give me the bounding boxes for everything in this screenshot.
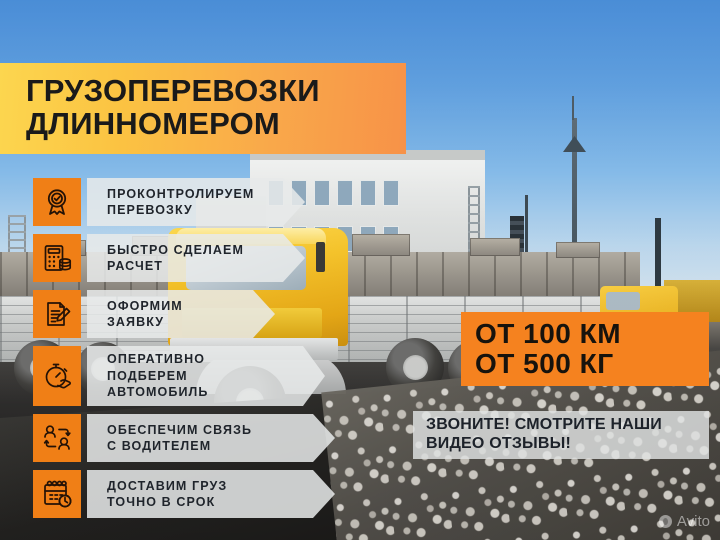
title-banner: ГРУЗОПЕРЕВОЗКИ ДЛИННОМЕРОМ bbox=[0, 63, 406, 154]
price-line-distance: ОТ 100 КМ bbox=[475, 319, 699, 349]
calculator-coins-icon bbox=[33, 234, 81, 282]
calendar-clock-icon bbox=[33, 470, 81, 518]
feature-line-1: БЫСТРО СДЕЛАЕМ bbox=[107, 242, 275, 259]
title-line-2: ДЛИННОМЕРОМ bbox=[26, 108, 394, 140]
feature-line-1: ОФОРМИМ bbox=[107, 298, 245, 315]
title-line-1: ГРУЗОПЕРЕВОЗКИ bbox=[26, 75, 394, 107]
feature-line-2: С ВОДИТЕЛЕМ bbox=[107, 438, 305, 455]
window bbox=[383, 180, 399, 206]
cargo-crate bbox=[470, 238, 520, 256]
cta-line-2: ВИДЕО ОТЗЫВЫ! bbox=[426, 435, 699, 454]
cta-line-1: ЗВОНИТЕ! СМОТРИТЕ НАШИ bbox=[426, 416, 699, 435]
feature-line-1: ПРОКОНТРОЛИРУЕМ bbox=[107, 186, 275, 203]
feature-text-panel: ОБЕСПЕЧИМ СВЯЗЬ С ВОДИТЕЛЕМ bbox=[87, 414, 335, 462]
feature-text-panel: ДОСТАВИМ ГРУЗ ТОЧНО В СРОК bbox=[87, 470, 335, 518]
feature-line-2: ЗАЯВКУ bbox=[107, 314, 245, 331]
feature-text-panel: ОФОРМИМ ЗАЯВКУ bbox=[87, 290, 275, 338]
feature-list: ПРОКОНТРОЛИРУЕМ ПЕРЕВОЗКУ bbox=[33, 178, 335, 518]
avito-watermark: Avito bbox=[659, 513, 710, 530]
feature-item: ДОСТАВИМ ГРУЗ ТОЧНО В СРОК bbox=[33, 470, 335, 518]
feature-text-panel: ОПЕРАТИВНО ПОДБЕРЕМ АВТОМОБИЛЬ bbox=[87, 346, 325, 406]
feature-line-2: РАСЧЕТ bbox=[107, 258, 275, 275]
second-truck-window bbox=[606, 292, 640, 310]
window bbox=[360, 180, 376, 206]
feature-line-2: ПЕРЕВОЗКУ bbox=[107, 202, 275, 219]
feature-text-panel: ПРОКОНТРОЛИРУЕМ ПЕРЕВОЗКУ bbox=[87, 178, 305, 226]
cargo-crate bbox=[556, 242, 600, 258]
two-persons-exchange-icon bbox=[33, 414, 81, 462]
feature-line-1: ДОСТАВИМ ГРУЗ bbox=[107, 478, 305, 495]
feature-line-3: АВТОМОБИЛЬ bbox=[107, 384, 295, 401]
feature-item: ОПЕРАТИВНО ПОДБЕРЕМ АВТОМОБИЛЬ bbox=[33, 346, 335, 406]
cargo-crate bbox=[352, 234, 410, 256]
feature-item: ОФОРМИМ ЗАЯВКУ bbox=[33, 290, 335, 338]
feature-text-panel: БЫСТРО СДЕЛАЕМ РАСЧЕТ bbox=[87, 234, 305, 282]
advertisement-banner: ГРУЗОПЕРЕВОЗКИ ДЛИННОМЕРОМ ПРОКОНТРОЛИРУ… bbox=[0, 0, 720, 540]
call-to-action-panel: ЗВОНИТЕ! СМОТРИТЕ НАШИ ВИДЕО ОТЗЫВЫ! bbox=[413, 411, 709, 459]
stopwatch-hand-icon bbox=[33, 346, 81, 406]
window bbox=[337, 180, 353, 206]
wheel-hub bbox=[403, 355, 428, 380]
price-line-weight: ОТ 500 КГ bbox=[475, 349, 699, 379]
price-conditions-box: ОТ 100 КМ ОТ 500 КГ bbox=[461, 312, 709, 386]
feature-line-1: ОБЕСПЕЧИМ СВЯЗЬ bbox=[107, 422, 305, 439]
feature-line-2: ПОДБЕРЕМ bbox=[107, 368, 295, 385]
document-pencil-icon bbox=[33, 290, 81, 338]
feature-item: ПРОКОНТРОЛИРУЕМ ПЕРЕВОЗКУ bbox=[33, 178, 335, 226]
avito-watermark-text: Avito bbox=[677, 513, 710, 530]
feature-line-2: ТОЧНО В СРОК bbox=[107, 494, 305, 511]
avito-logo-icon bbox=[659, 515, 672, 528]
award-badge-check-icon bbox=[33, 178, 81, 226]
feature-item: БЫСТРО СДЕЛАЕМ РАСЧЕТ bbox=[33, 234, 335, 282]
feature-item: ОБЕСПЕЧИМ СВЯЗЬ С ВОДИТЕЛЕМ bbox=[33, 414, 335, 462]
feature-line-1: ОПЕРАТИВНО bbox=[107, 351, 295, 368]
